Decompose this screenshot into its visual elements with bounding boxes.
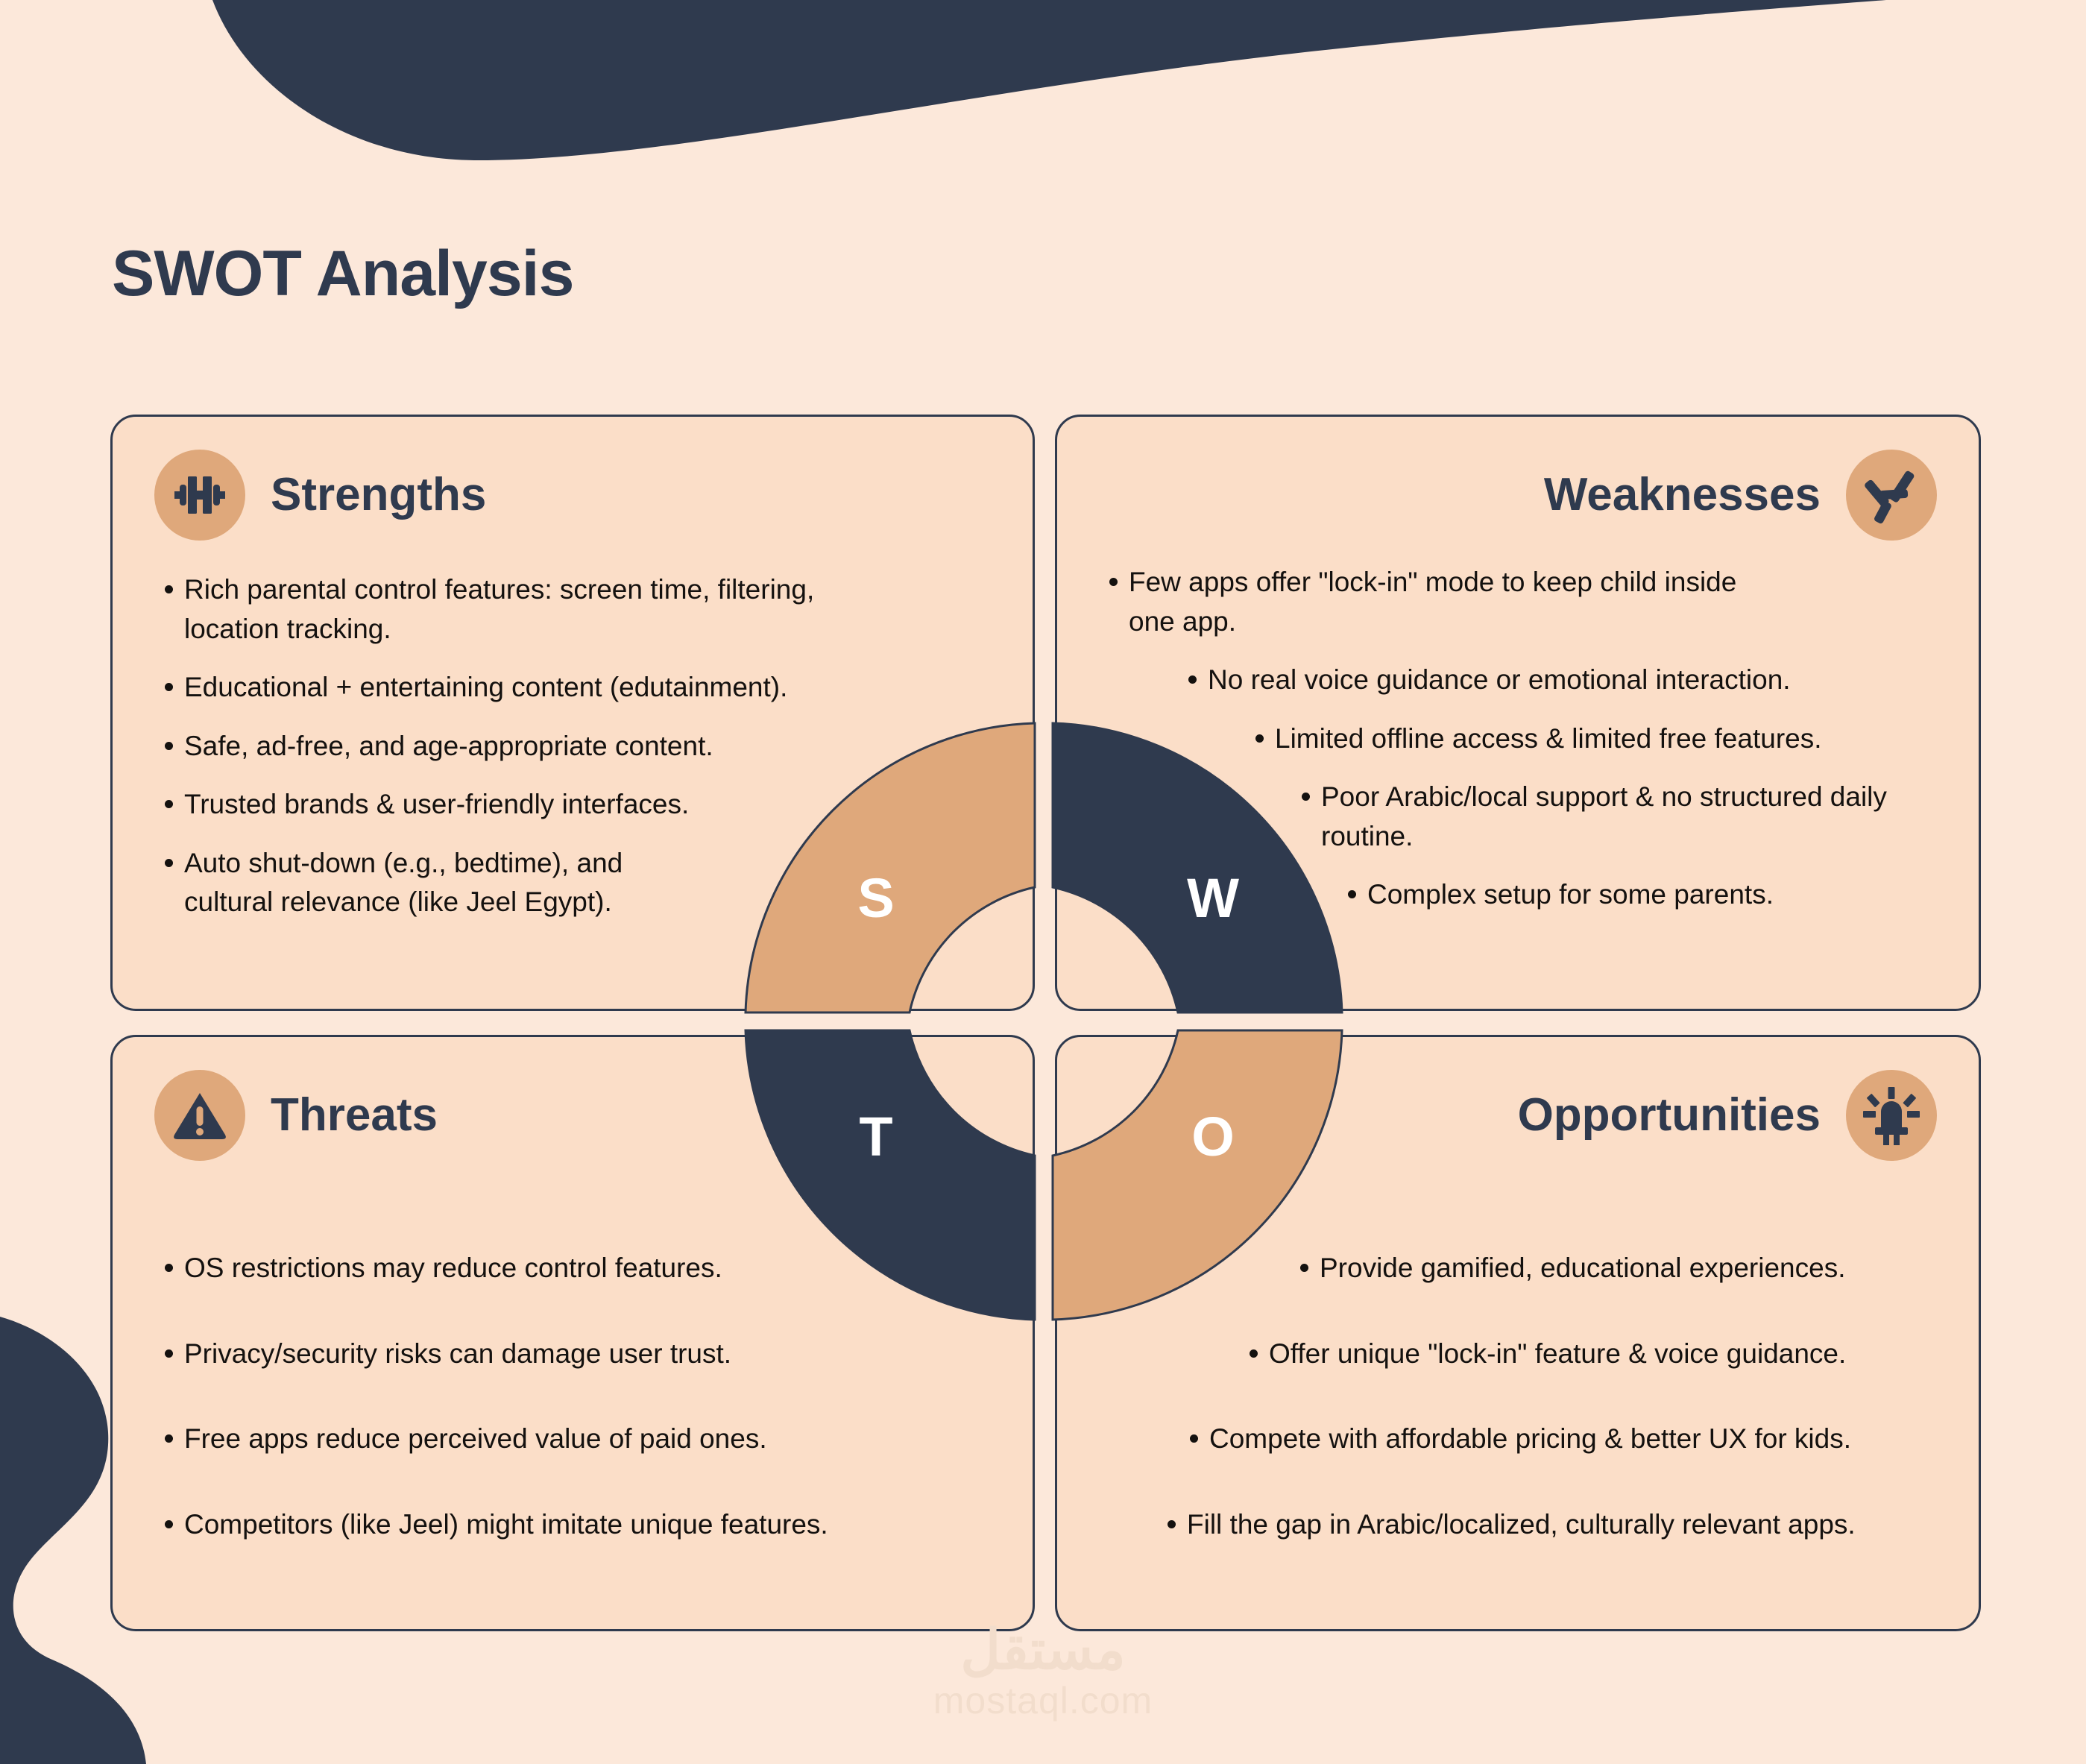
threats-title: Threats (271, 1092, 438, 1138)
dumbbell-icon (154, 450, 245, 541)
list-item: Auto shut-down (e.g., bedtime), and cult… (154, 844, 676, 922)
list-item: Fill the gap in Arabic/localized, cultur… (1157, 1505, 1937, 1545)
list-item: Free apps reduce perceived value of paid… (154, 1420, 991, 1459)
swot-donut-chart: S W T O (742, 719, 1346, 1323)
crutch-icon (1846, 450, 1937, 541)
list-item: Provide gamified, educational experience… (1290, 1249, 1937, 1288)
donut-segment-t (746, 1030, 1035, 1320)
weaknesses-title: Weaknesses (1544, 472, 1821, 518)
list-item: No real voice guidance or emotional inte… (1178, 661, 1937, 700)
list-item: Privacy/security risks can damage user t… (154, 1335, 991, 1374)
list-item: Limited offline access & limited free fe… (1245, 719, 1937, 759)
page-title: SWOT Analysis (112, 237, 573, 311)
donut-segment-o (1053, 1030, 1342, 1320)
list-item: Offer unique "lock-in" feature & voice g… (1239, 1335, 1937, 1374)
light-bulb-icon (1846, 1070, 1937, 1161)
watermark: مستقل mostaql.com (0, 1621, 2086, 1722)
list-item: Few apps offer "lock-in" mode to keep ch… (1099, 563, 1770, 641)
list-item: Poor Arabic/local support & no structure… (1291, 778, 1932, 856)
donut-label-s: S (857, 867, 894, 929)
list-item: Compete with affordable pricing & better… (1179, 1420, 1937, 1459)
strengths-title: Strengths (271, 472, 486, 518)
donut-label-w: W (1187, 867, 1239, 929)
list-item: Competitors (like Jeel) might imitate un… (154, 1505, 991, 1545)
list-item: Complex setup for some parents. (1337, 875, 1937, 915)
top-decorative-blob (0, 0, 2086, 179)
warning-triangle-icon (154, 1070, 245, 1161)
list-item: Rich parental control features: screen t… (154, 570, 892, 649)
list-item: Educational + entertaining content (edut… (154, 668, 991, 708)
weaknesses-header: Weaknesses (1057, 417, 1979, 541)
strengths-header: Strengths (113, 417, 1033, 541)
opportunities-title: Opportunities (1518, 1092, 1821, 1138)
watermark-domain: mostaql.com (0, 1679, 2086, 1722)
donut-label-o: O (1191, 1106, 1235, 1168)
donut-label-t: T (859, 1106, 892, 1168)
